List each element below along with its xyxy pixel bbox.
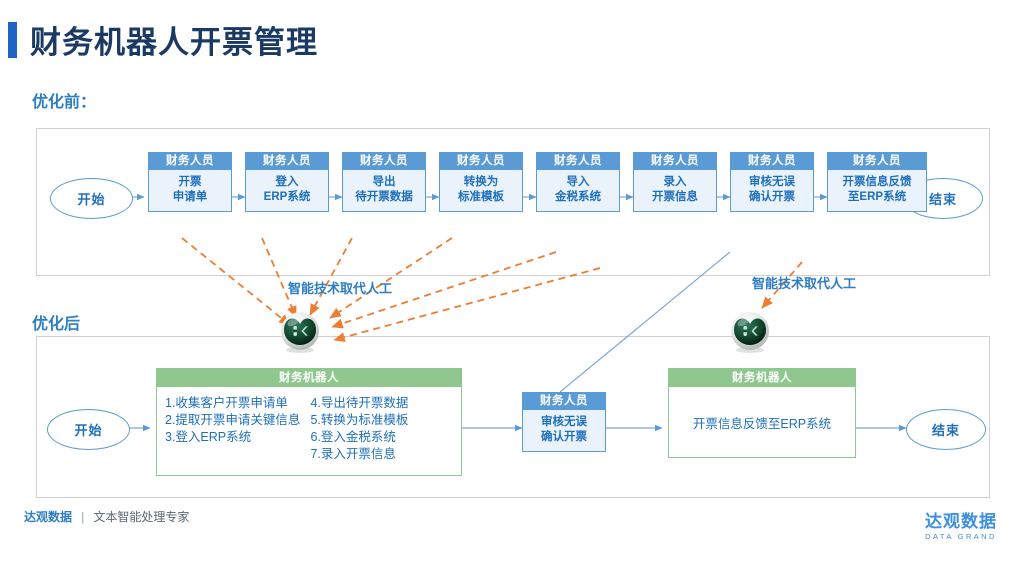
process-box-3-line2: 待开票数据 (345, 190, 423, 205)
process-box-1-line2: 申请单 (151, 190, 229, 205)
process-box-1[interactable]: 财务人员 开票 申请单 (148, 152, 232, 212)
process-box-4-line2: 标准模板 (442, 190, 520, 205)
process-box-2-line1: 登入 (248, 175, 326, 190)
finance-robot-icon-right (728, 310, 772, 354)
process-box-4-line1: 转换为 (442, 175, 520, 190)
process-box-7[interactable]: 财务人员 审核无误 确认开票 (730, 152, 814, 212)
section-label-after: 优化后 (32, 310, 80, 334)
process-box-7-line2: 确认开票 (733, 190, 811, 205)
process-box-4-role: 财务人员 (440, 153, 522, 170)
process-box-1-role: 财务人员 (149, 153, 231, 170)
robot-feedback-text: 开票信息反馈至ERP系统 (669, 387, 855, 457)
process-box-7-body: 审核无误 确认开票 (731, 170, 813, 211)
process-box-2-role: 财务人员 (246, 153, 328, 170)
process-box-3-line1: 导出 (345, 175, 423, 190)
footer-brand: 达观数据 (24, 508, 72, 525)
process-box-2-body: 登入 ERP系统 (246, 170, 328, 211)
robot-task-column-right: 4.导出待开票数据 5.转换为标准模板 6.登入金税系统 7.录入开票信息 (302, 395, 410, 463)
process-box-5-line1: 导入 (539, 175, 617, 190)
human-review-line1: 审核无误 (525, 415, 603, 430)
process-box-6-line1: 录入 (636, 175, 714, 190)
page-header: 财务机器人开票管理 (0, 20, 1024, 64)
process-box-5-body: 导入 金税系统 (537, 170, 619, 211)
process-box-5-role: 财务人员 (537, 153, 619, 170)
process-box-6-line2: 开票信息 (636, 190, 714, 205)
robot-task-item: 4.导出待开票数据 (310, 395, 408, 412)
process-box-6-role: 财务人员 (634, 153, 716, 170)
process-box-1-body: 开票 申请单 (149, 170, 231, 211)
process-box-8-body: 开票信息反馈 至ERP系统 (828, 170, 926, 211)
process-box-1-line1: 开票 (151, 175, 229, 190)
footer: 达观数据 | 文本智能处理专家 (24, 508, 189, 525)
start-terminator-after: 开始 (47, 409, 130, 450)
human-review-line2: 确认开票 (525, 430, 603, 445)
logo-english: DATA GRAND (925, 531, 997, 542)
process-box-5[interactable]: 财务人员 导入 金税系统 (536, 152, 620, 212)
process-box-3-body: 导出 待开票数据 (343, 170, 425, 211)
footer-tagline: 文本智能处理专家 (93, 508, 189, 525)
process-box-8-line2: 至ERP系统 (830, 190, 924, 205)
robot-task-item: 7.录入开票信息 (310, 446, 408, 463)
process-box-3-role: 财务人员 (343, 153, 425, 170)
robot-task-item: 2.提取开票申请关键信息 (165, 412, 300, 429)
process-box-2-line2: ERP系统 (248, 190, 326, 205)
robot-task-item: 6.登入金税系统 (310, 429, 408, 446)
robot-task-box-header: 财务机器人 (157, 369, 461, 387)
robot-task-columns: 1.收集客户开票申请单 2.提取开票申请关键信息 3.登入ERP系统 4.导出待… (157, 387, 461, 463)
annotation-left: 智能技术取代人工 (288, 278, 392, 297)
human-review-box[interactable]: 财务人员 审核无误 确认开票 (522, 392, 606, 452)
footer-separator: | (81, 510, 84, 524)
process-box-3[interactable]: 财务人员 导出 待开票数据 (342, 152, 426, 212)
end-terminator-after: 结束 (906, 409, 986, 450)
process-box-8-line1: 开票信息反馈 (830, 175, 924, 190)
human-review-box-body: 审核无误 确认开票 (523, 410, 605, 451)
process-box-2[interactable]: 财务人员 登入 ERP系统 (245, 152, 329, 212)
robot-task-box[interactable]: 财务机器人 1.收集客户开票申请单 2.提取开票申请关键信息 3.登入ERP系统… (156, 368, 462, 476)
annotation-right: 智能技术取代人工 (752, 273, 856, 292)
robot-feedback-box[interactable]: 财务机器人 开票信息反馈至ERP系统 (668, 368, 856, 458)
process-box-8-role: 财务人员 (828, 153, 926, 170)
process-box-6-body: 录入 开票信息 (634, 170, 716, 211)
human-review-box-role: 财务人员 (523, 393, 605, 410)
process-box-8[interactable]: 财务人员 开票信息反馈 至ERP系统 (827, 152, 927, 212)
title-accent-bar (8, 22, 17, 58)
process-box-6[interactable]: 财务人员 录入 开票信息 (633, 152, 717, 212)
process-box-5-line2: 金税系统 (539, 190, 617, 205)
process-box-4-body: 转换为 标准模板 (440, 170, 522, 211)
robot-task-item: 3.登入ERP系统 (165, 429, 300, 446)
process-box-7-role: 财务人员 (731, 153, 813, 170)
robot-task-column-left: 1.收集客户开票申请单 2.提取开票申请关键信息 3.登入ERP系统 (157, 395, 302, 463)
start-terminator-before: 开始 (50, 178, 133, 219)
section-label-before: 优化前： (32, 88, 96, 112)
process-box-4[interactable]: 财务人员 转换为 标准模板 (439, 152, 523, 212)
process-box-7-line1: 审核无误 (733, 175, 811, 190)
page-title: 财务机器人开票管理 (30, 17, 318, 62)
robot-task-item: 1.收集客户开票申请单 (165, 395, 300, 412)
logo-chinese: 达观数据 (925, 512, 997, 531)
robot-feedback-box-header: 财务机器人 (669, 369, 855, 387)
robot-task-item: 5.转换为标准模板 (310, 412, 408, 429)
company-logo: 达观数据 DATA GRAND (925, 512, 997, 542)
finance-robot-icon-left (278, 310, 322, 354)
